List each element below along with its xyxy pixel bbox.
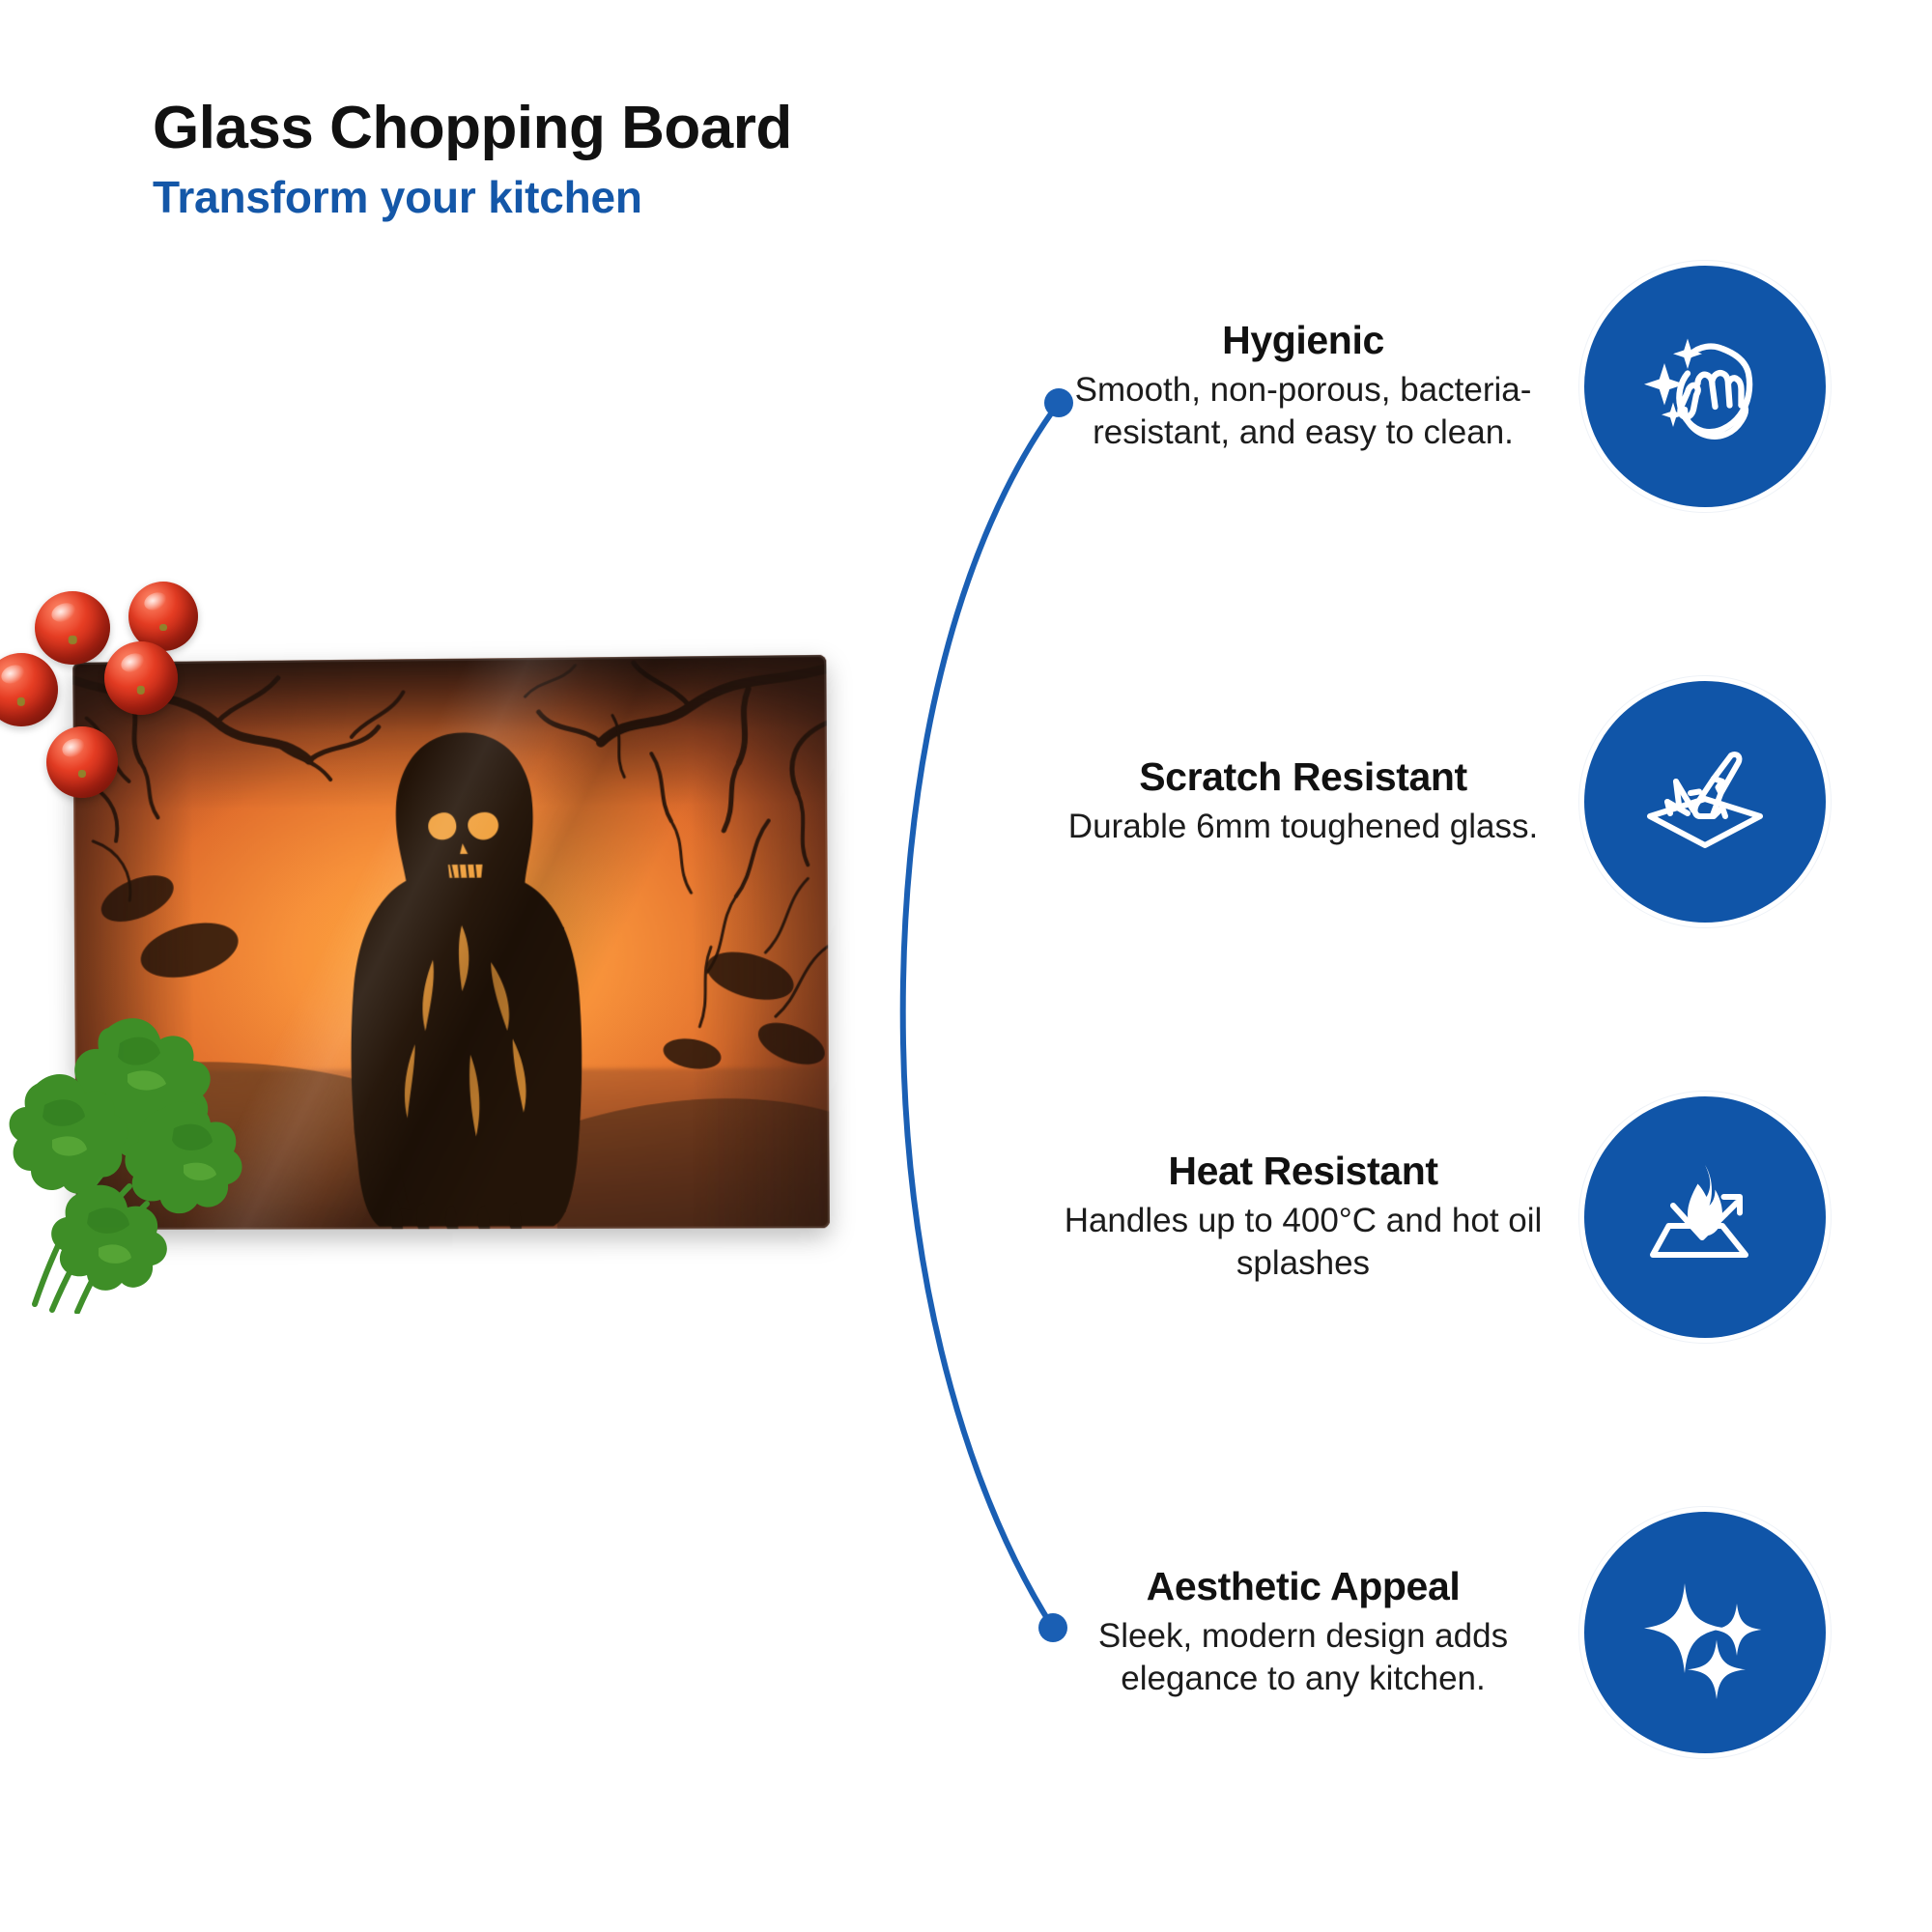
- feature-description: Durable 6mm toughened glass.: [1043, 806, 1563, 848]
- feature-description: Smooth, non-porous, bacteria-resistant, …: [1043, 369, 1563, 454]
- flame-deflect-surface-icon: [1584, 1096, 1826, 1338]
- header: Glass Chopping Board Transform your kitc…: [153, 97, 1119, 222]
- cherry-tomato: [104, 641, 178, 715]
- page-subtitle: Transform your kitchen: [153, 173, 1119, 222]
- feature-text-block: Heat Resistant Handles up to 400°C and h…: [1043, 1150, 1584, 1285]
- feature-title: Aesthetic Appeal: [1043, 1565, 1563, 1609]
- feature-item-hygienic[interactable]: Hygienic Smooth, non-porous, bacteria-re…: [1043, 266, 1893, 507]
- feature-item-scratch-resistant[interactable]: Scratch Resistant Durable 6mm toughened …: [1043, 681, 1893, 923]
- hand-wiping-sparkle-icon: [1584, 266, 1826, 507]
- feature-text-block: Aesthetic Appeal Sleek, modern design ad…: [1043, 1565, 1584, 1700]
- sparkles-icon: [1584, 1512, 1826, 1753]
- parsley-garnish: [0, 985, 274, 1314]
- feature-title: Scratch Resistant: [1043, 755, 1563, 800]
- feature-text-block: Scratch Resistant Durable 6mm toughened …: [1043, 755, 1584, 848]
- feature-list: Hygienic Smooth, non-porous, bacteria-re…: [1043, 0, 1932, 1932]
- feature-item-heat-resistant[interactable]: Heat Resistant Handles up to 400°C and h…: [1043, 1096, 1893, 1338]
- feature-description: Handles up to 400°C and hot oil splashes: [1043, 1200, 1563, 1285]
- feature-title: Hygienic: [1043, 319, 1563, 363]
- feature-item-aesthetic-appeal[interactable]: Aesthetic Appeal Sleek, modern design ad…: [1043, 1512, 1893, 1753]
- product-image-group: [0, 599, 850, 1294]
- knife-scratch-surface-icon: [1584, 681, 1826, 923]
- feature-title: Heat Resistant: [1043, 1150, 1563, 1194]
- page-title: Glass Chopping Board: [153, 97, 1119, 159]
- cherry-tomato: [46, 726, 118, 798]
- cherry-tomato: [35, 591, 110, 665]
- feature-text-block: Hygienic Smooth, non-porous, bacteria-re…: [1043, 319, 1584, 454]
- feature-description: Sleek, modern design adds elegance to an…: [1043, 1615, 1563, 1700]
- cherry-tomato: [0, 653, 58, 726]
